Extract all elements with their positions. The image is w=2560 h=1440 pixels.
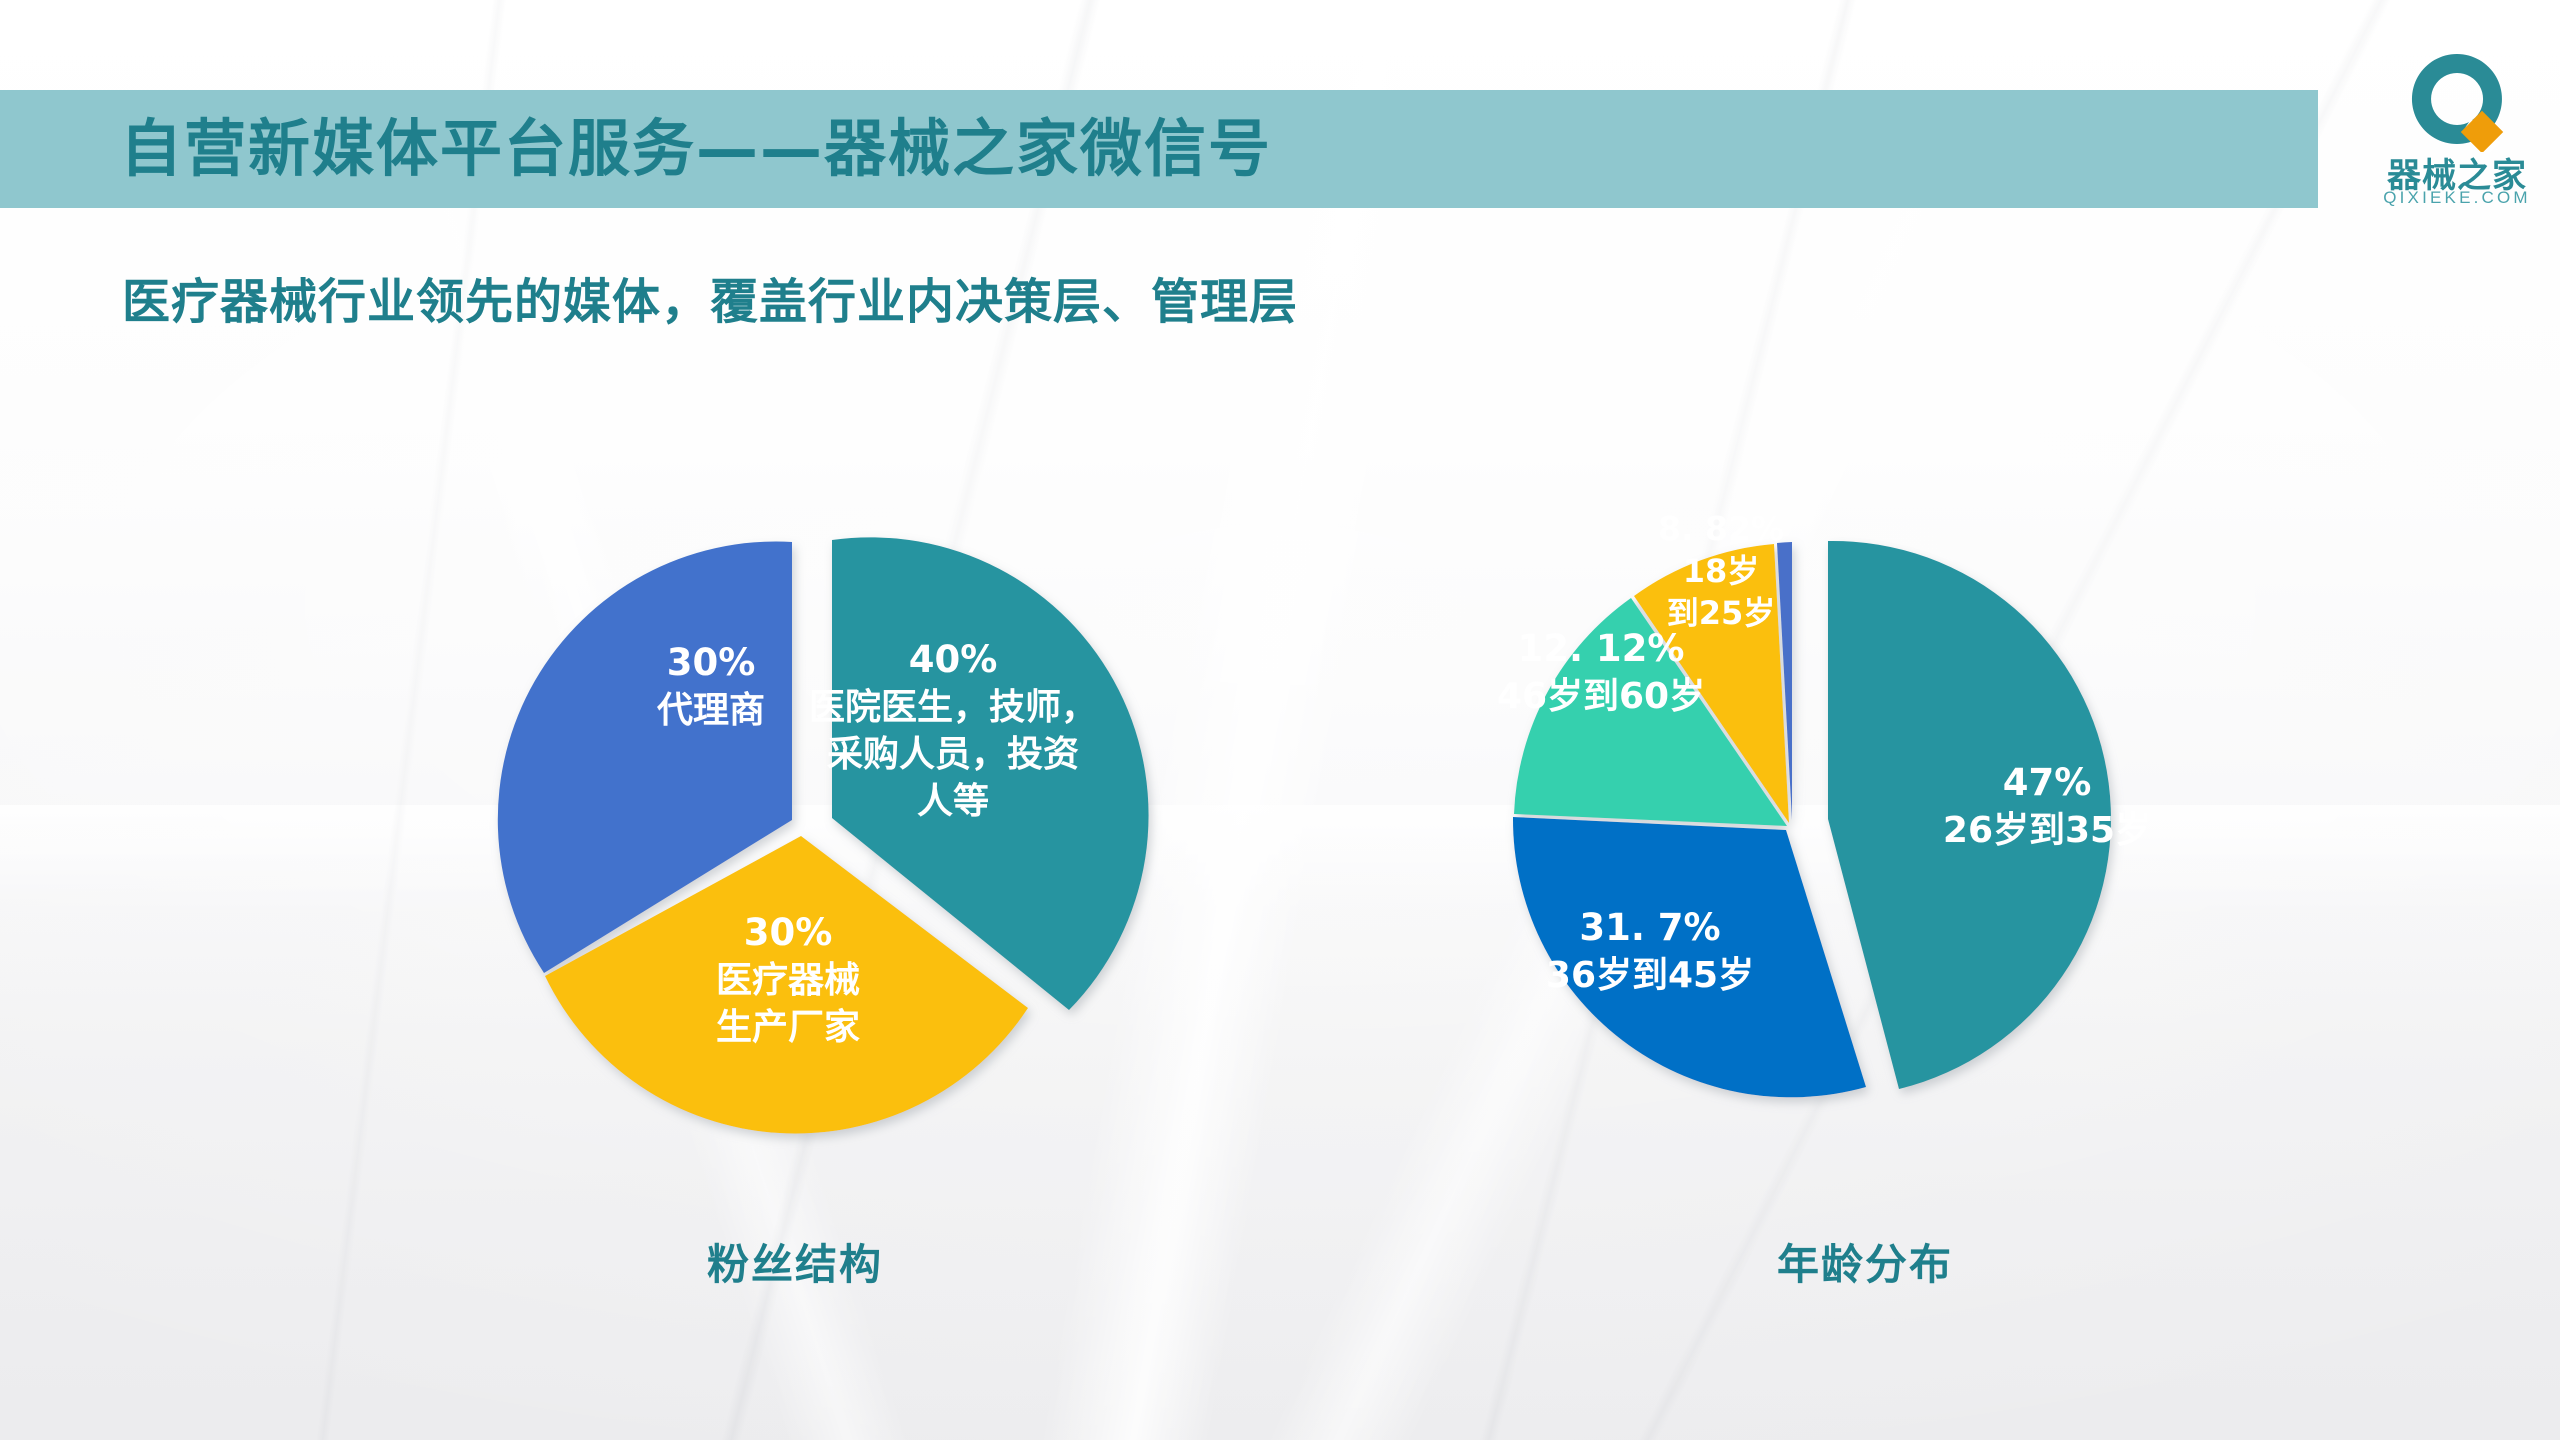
pie-chart-age-distribution: 8. 82% 18岁 到25岁 12. 12% 46岁到60岁 31. 7% 3… bbox=[1425, 395, 2305, 1225]
brand-logo: 器械之家 QIXIEKE.COM bbox=[2372, 52, 2542, 218]
slice-name-manufacturer-1: 医疗器械 bbox=[716, 960, 860, 1001]
slice-name-age-26-35: 26岁到35岁 bbox=[1943, 810, 2151, 851]
slice-name-hospital-3: 人等 bbox=[917, 781, 989, 822]
chart-caption-fan-structure: 粉丝结构 bbox=[355, 1231, 1235, 1292]
chart-caption-age-distribution: 年龄分布 bbox=[1425, 1231, 2305, 1292]
subtitle-text: 医疗器械行业领先的媒体，覆盖行业内决策层、管理层 bbox=[122, 262, 1298, 332]
slice-name-age-18-25-1: 18岁 bbox=[1683, 552, 1760, 590]
slice-name-hospital-1: 医院医生，技师， bbox=[809, 687, 1097, 728]
slice-pct-manufacturer: 30% bbox=[744, 911, 833, 954]
slice-name-agent: 代理商 bbox=[656, 690, 765, 731]
slice-pct-age-18-25: 8. 82% bbox=[1658, 509, 1784, 548]
slice-pct-agent: 30% bbox=[667, 641, 756, 684]
slice-pct-hospital: 40% bbox=[909, 638, 998, 681]
slice-name-age-46-60: 46岁到60岁 bbox=[1497, 676, 1705, 717]
slice-name-manufacturer-2: 生产厂家 bbox=[716, 1007, 860, 1048]
slice-pct-age-36-45: 31. 7% bbox=[1579, 906, 1720, 949]
slice-name-hospital-2: 采购人员，投资 bbox=[827, 734, 1079, 775]
q-ring-icon bbox=[2372, 52, 2542, 152]
pie-chart-fan-structure: 30% 代理商 30% 医疗器械 生产厂家 40% 医院医生，技师， 采购人员，… bbox=[355, 395, 1235, 1225]
slice-name-age-36-45: 36岁到45岁 bbox=[1546, 955, 1754, 996]
page-title: 自营新媒体平台服务——器械之家微信号 bbox=[120, 94, 1272, 204]
slice-pct-age-46-60: 12. 12% bbox=[1518, 627, 1685, 670]
brand-name-en: QIXIEKE.COM bbox=[2372, 188, 2542, 208]
slice-pct-age-26-35: 47% bbox=[2003, 761, 2092, 804]
